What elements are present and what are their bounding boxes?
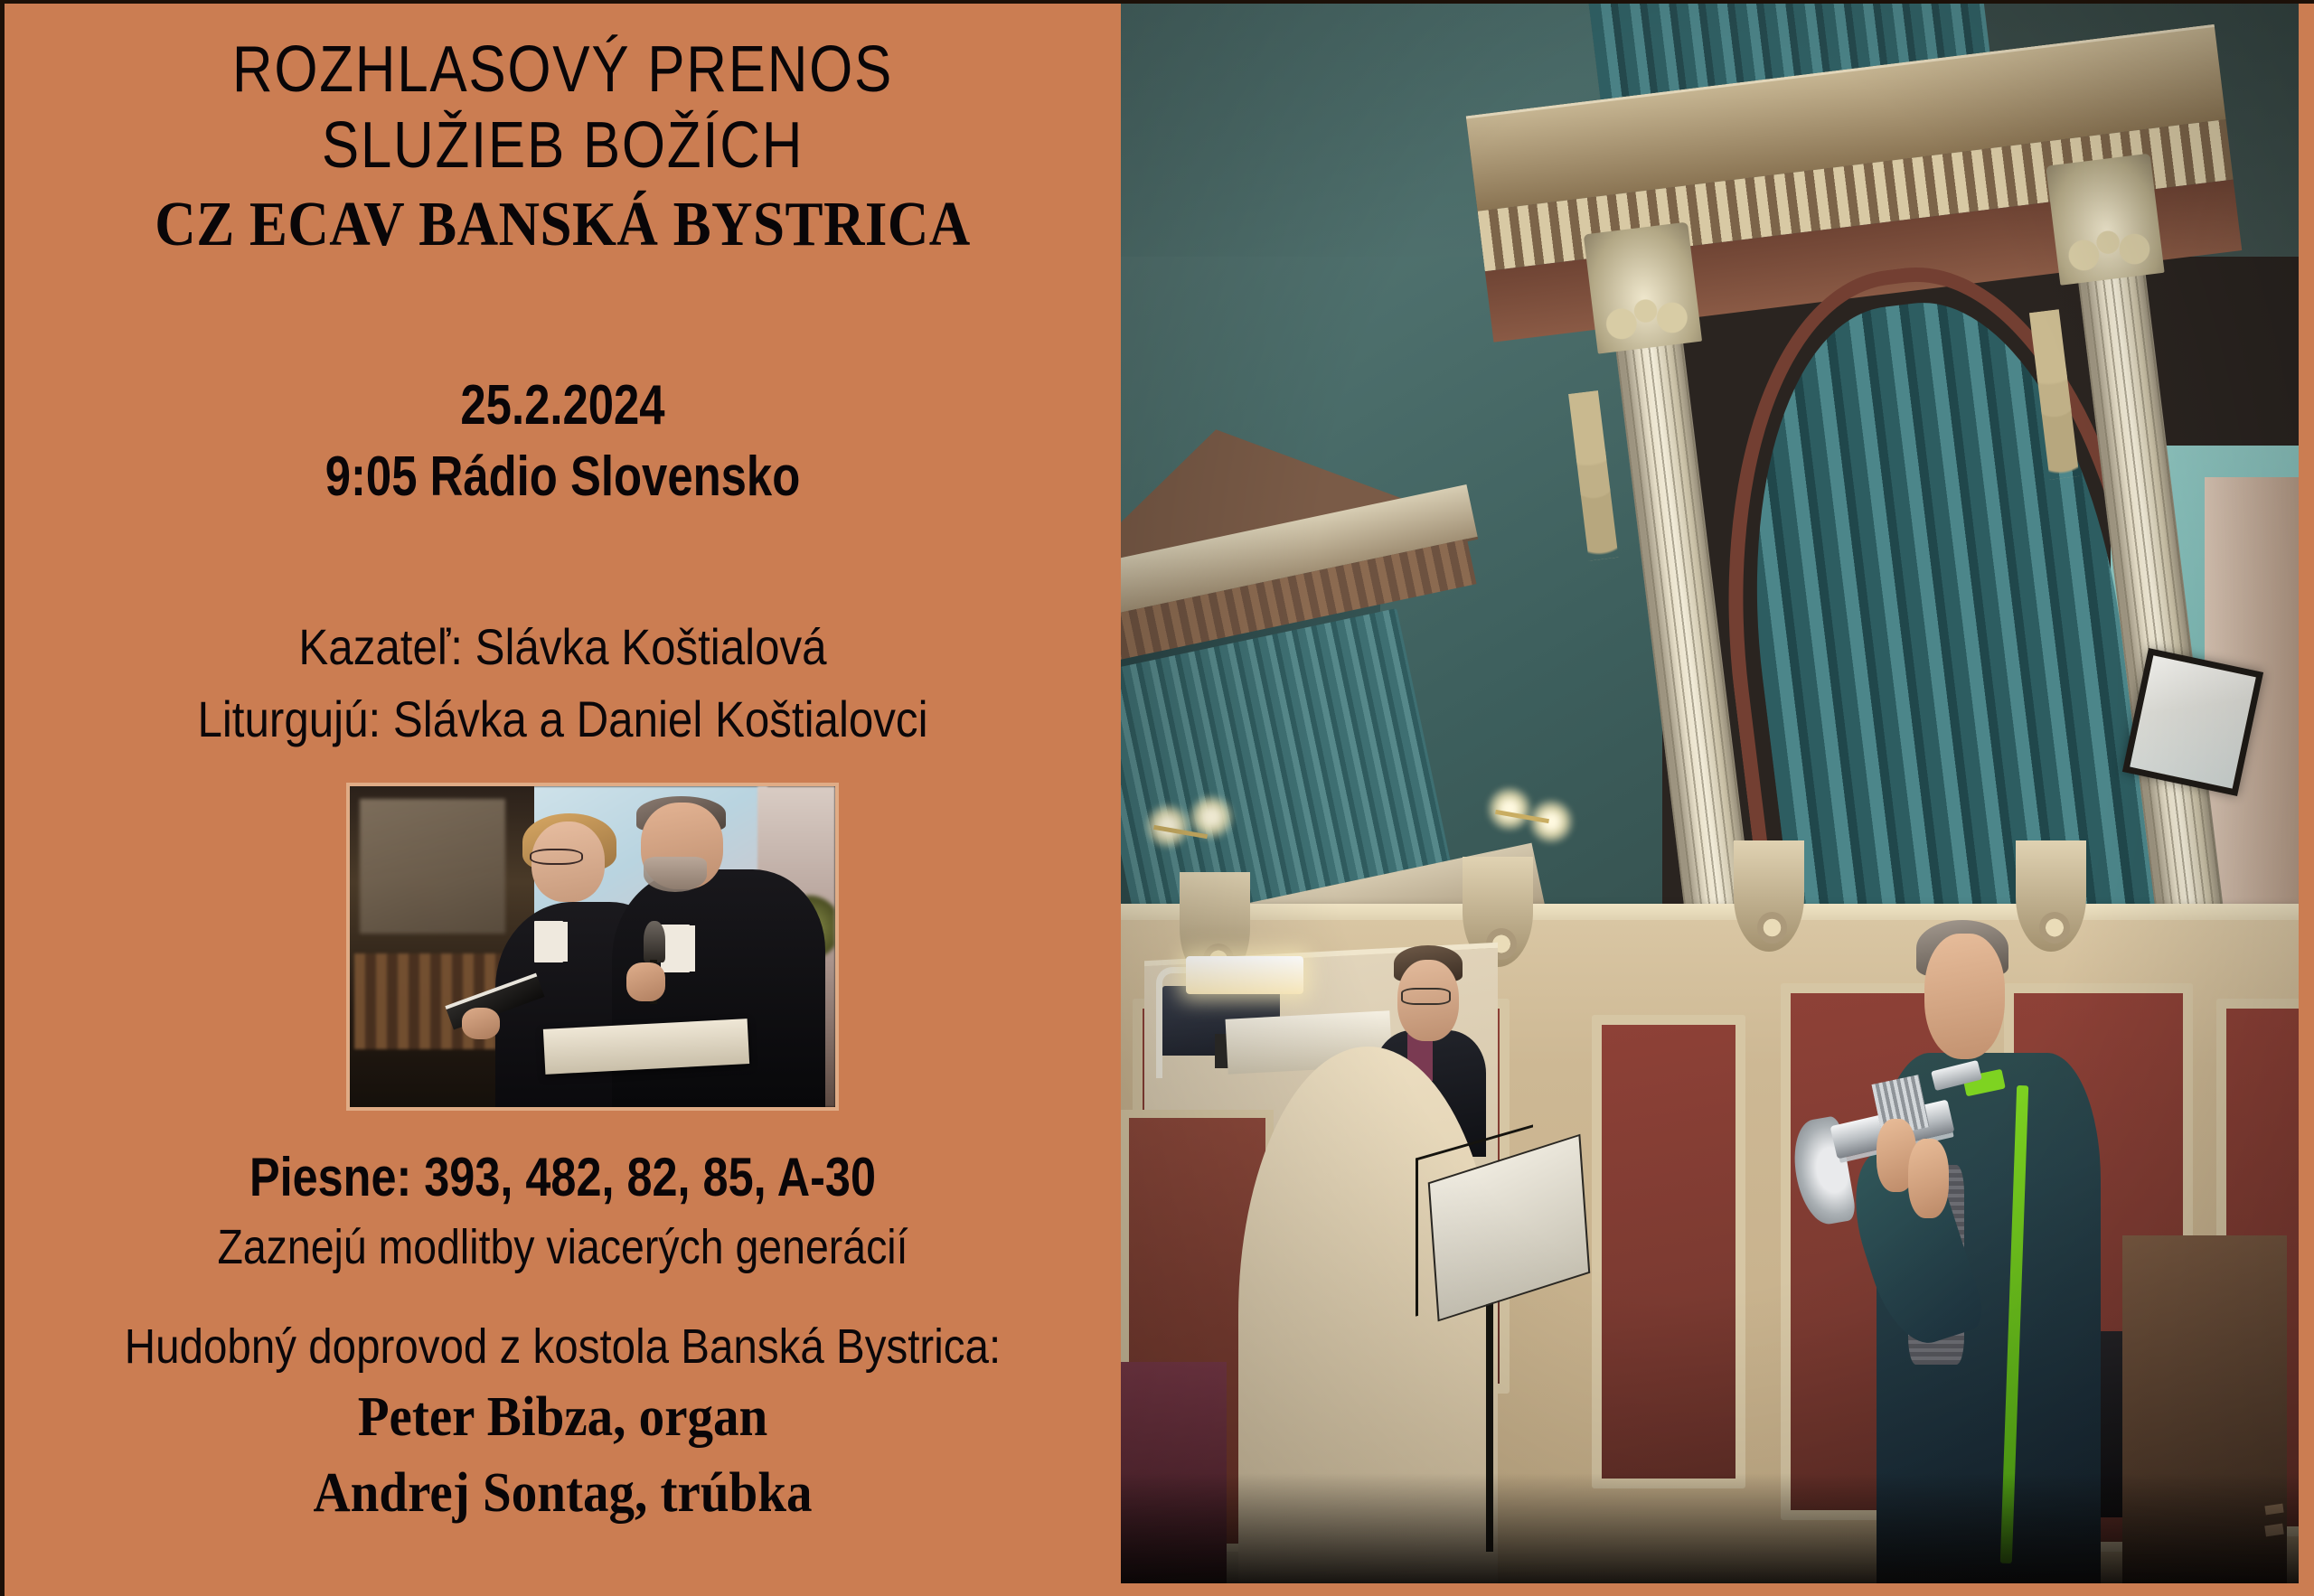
prayer-note: Zaznejú modlitby viacerých generácií (82, 1214, 1042, 1282)
preaching-tabs-woman (534, 921, 563, 962)
headline-line-2: SLUŽIEB BOŽÍCH (82, 108, 1042, 184)
wood-panel (1592, 1015, 1745, 1488)
clergy-photo (346, 783, 839, 1111)
music-intro-line: Hudobný doprovod z kostola Banská Bystri… (71, 1314, 1054, 1380)
glasses-icon (1401, 988, 1451, 1005)
broadcast-datetime-block: 25.2.2024 9:05 Rádio Slovensko (5, 370, 1121, 513)
corinthian-capital-right (2046, 153, 2165, 285)
corinthian-capital-left (1583, 222, 1702, 354)
lamp-glow (1144, 803, 1191, 850)
hand-holding-tablet (462, 1008, 501, 1040)
text-panel: ROZHLASOVÝ PRENOS SLUŽIEB BOŽÍCH CZ ECAV… (5, 4, 1121, 1596)
trumpeter-head (1924, 934, 2005, 1059)
glasses-icon (530, 849, 583, 865)
musician-organ: Peter Bibza, organ (49, 1380, 1076, 1455)
clergy-photo-scene (350, 786, 835, 1107)
clergy-block: Kazateľ: Slávka Koštialová Liturgujú: Sl… (5, 611, 1121, 755)
trumpeter-hand-right (1908, 1139, 1948, 1218)
liturgists-line: Liturgujú: Slávka a Daniel Koštialovci (71, 683, 1054, 756)
musician-trumpet: Andrej Sontag, trúbka (49, 1456, 1076, 1531)
organ-photo (1121, 4, 2299, 1583)
acanthus-leaf (2062, 201, 2154, 277)
hand-holding-microphone (626, 962, 665, 1001)
headline-line-3-congregation: CZ ECAV BANSKÁ BYSTRICA (61, 185, 1066, 265)
broadcast-time-station: 9:05 Rádio Slovensko (105, 441, 1021, 512)
songs-block: Piesne: 393, 482, 82, 85, A-30 Zaznejú m… (5, 1146, 1121, 1281)
floor-shadow (1121, 1473, 2299, 1583)
hymn-numbers: Piesne: 393, 482, 82, 85, A-30 (94, 1146, 1031, 1210)
wall-panel (360, 799, 505, 934)
poster-canvas: ROZHLASOVÝ PRENOS SLUŽIEB BOŽÍCH CZ ECAV… (0, 0, 2314, 1596)
broadcast-date: 25.2.2024 (105, 370, 1021, 441)
lamp-glow (1486, 785, 1533, 832)
music-block: Hudobný doprovod z kostola Banská Bystri… (5, 1314, 1121, 1531)
carved-festoon-left (1568, 390, 1619, 561)
preacher-line: Kazateľ: Slávka Koštialová (71, 611, 1054, 683)
headline-block: ROZHLASOVÝ PRENOS SLUŽIEB BOŽÍCH CZ ECAV… (5, 33, 1121, 265)
acanthus-leaf (1599, 270, 1691, 346)
preacher-man-beard (644, 857, 707, 892)
headline-line-1: ROZHLASOVÝ PRENOS (82, 33, 1042, 108)
console-lamp-icon (1186, 956, 1303, 994)
microphone-icon (644, 921, 665, 962)
